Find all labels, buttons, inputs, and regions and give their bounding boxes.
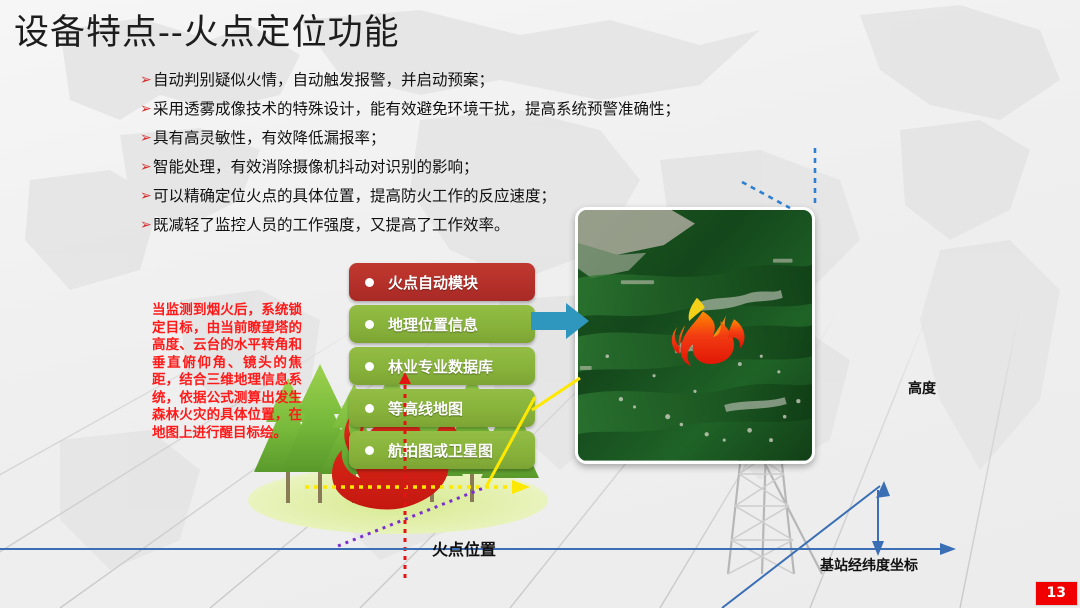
module-label: 火点自动模块 bbox=[388, 272, 478, 293]
yellow-connector-line bbox=[532, 378, 580, 410]
module-label: 地理位置信息 bbox=[388, 314, 478, 335]
axis-arrow-icons bbox=[872, 481, 956, 556]
bullet-dot-icon bbox=[365, 278, 374, 287]
list-item: ➢ 自动判别疑似火情，自动触发报警，并启动预案； bbox=[140, 70, 800, 90]
arrow-bullet-icon: ➢ bbox=[140, 186, 153, 205]
bullet-dot-icon bbox=[365, 446, 374, 455]
list-item-label: 采用透雾成像技术的特殊设计，能有效避免环境干扰，提高系统预警准确性； bbox=[153, 99, 680, 119]
bullet-dot-icon bbox=[365, 320, 374, 329]
arrow-bullet-icon: ➢ bbox=[140, 128, 153, 147]
module-label: 林业专业数据库 bbox=[388, 356, 493, 377]
bullet-dot-icon bbox=[365, 404, 374, 413]
module-list: 火点自动模块 地理位置信息 林业专业数据库 等高线地图 航拍图或卫星图 bbox=[349, 263, 535, 473]
list-item-label: 具有高灵敏性，有效降低漏报率； bbox=[153, 128, 386, 148]
arrow-bullet-icon: ➢ bbox=[140, 215, 153, 234]
list-item: ➢ 智能处理，有效消除摄像机抖动对识别的影响； bbox=[140, 157, 800, 177]
list-item-label: 智能处理，有效消除摄像机抖动对识别的影响； bbox=[153, 157, 479, 177]
list-item-label: 既减轻了监控人员的工作强度，又提高了工作效率。 bbox=[153, 215, 510, 235]
arrow-bullet-icon: ➢ bbox=[140, 70, 153, 89]
list-item: ➢ 采用透雾成像技术的特殊设计，能有效避免环境干扰，提高系统预警准确性； bbox=[140, 99, 800, 119]
list-item-label: 可以精确定位火点的具体位置，提高防火工作的反应速度； bbox=[153, 186, 556, 206]
list-item: ➢ 可以精确定位火点的具体位置，提高防火工作的反应速度； bbox=[140, 186, 800, 206]
page-title: 设备特点--火点定位功能 bbox=[14, 4, 400, 55]
slide-canvas: 设备特点--火点定位功能 ➢ 自动判别疑似火情，自动触发报警，并启动预案； ➢ … bbox=[0, 0, 1080, 608]
list-item: ➢ 具有高灵敏性，有效降低漏报率； bbox=[140, 128, 800, 148]
module-box-aerial-satellite[interactable]: 航拍图或卫星图 bbox=[349, 431, 535, 469]
arrow-bullet-icon: ➢ bbox=[140, 157, 153, 176]
arrow-bullet-icon: ➢ bbox=[140, 99, 153, 118]
module-label: 等高线地图 bbox=[388, 398, 463, 419]
module-box-forestry-db[interactable]: 林业专业数据库 bbox=[349, 347, 535, 385]
satellite-terrain-image bbox=[578, 210, 812, 461]
module-label: 航拍图或卫星图 bbox=[388, 440, 493, 461]
list-item-label: 自动判别疑似火情，自动触发报警，并启动预案； bbox=[153, 70, 494, 90]
page-number-badge: 13 bbox=[1035, 581, 1078, 606]
satellite-image-panel bbox=[575, 207, 815, 464]
bullet-dot-icon bbox=[365, 362, 374, 371]
yellow-dotted-horizontal bbox=[305, 480, 530, 494]
module-box-fire-auto[interactable]: 火点自动模块 bbox=[349, 263, 535, 301]
note-text: 当监测到烟火后，系统锁定目标，由当前瞭望塔的高度、云台的水平转角和垂直俯仰角、镜… bbox=[152, 302, 302, 442]
label-base-coordinates: 基站经纬度坐标 bbox=[820, 555, 918, 575]
module-box-contour-map[interactable]: 等高线地图 bbox=[349, 389, 535, 427]
module-box-geo-info[interactable]: 地理位置信息 bbox=[349, 305, 535, 343]
label-fire-point: 火点位置 bbox=[432, 536, 496, 560]
label-height: 高度 bbox=[908, 378, 936, 398]
